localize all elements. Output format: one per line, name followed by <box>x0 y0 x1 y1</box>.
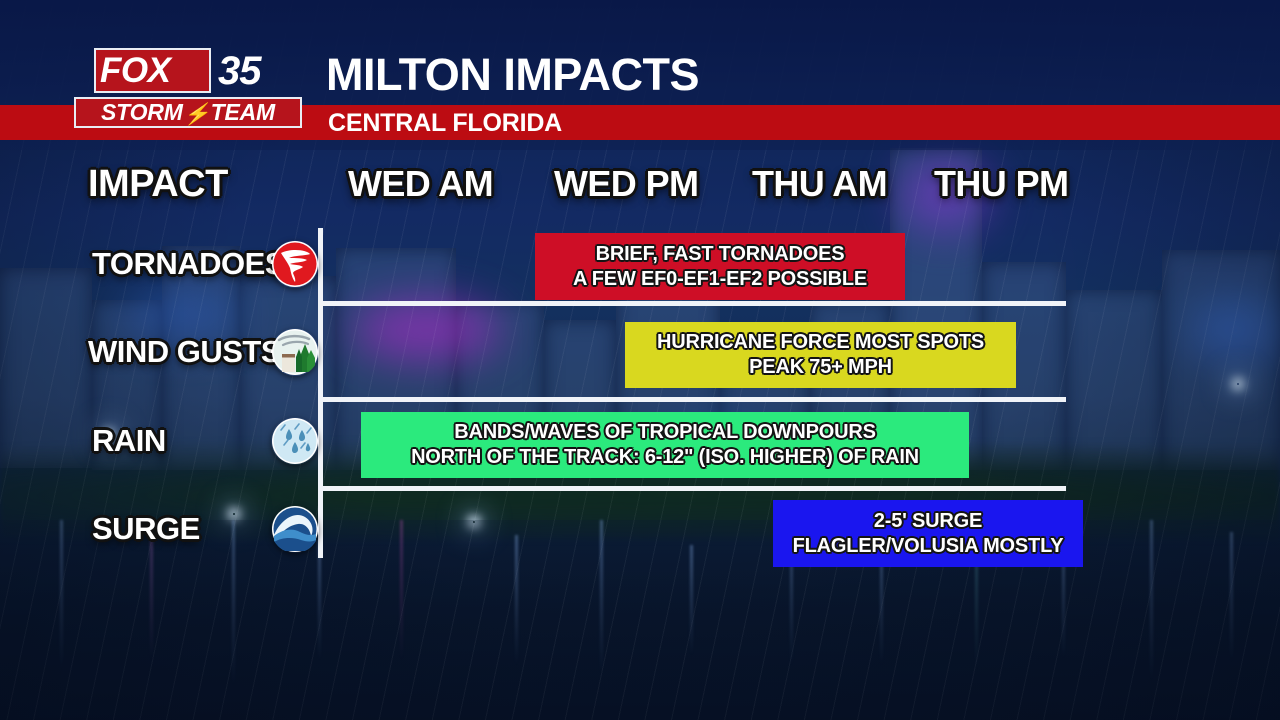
wind-gust-trees-icon <box>271 328 319 376</box>
column-header-thu-pm: THU PM <box>934 163 1068 205</box>
column-header-impact: IMPACT <box>88 163 228 206</box>
storm-word: STORM <box>101 99 183 125</box>
impact-bar-rain: BANDS/WAVES OF TROPICAL DOWNPOURS NORTH … <box>361 412 969 478</box>
storm-surge-wave-icon <box>271 505 319 553</box>
row-separator-1 <box>322 301 1066 306</box>
page-title: MILTON IMPACTS <box>326 50 699 100</box>
team-word: TEAM <box>211 99 275 125</box>
weather-graphic-screen: FOX 35 STORM⚡TEAM MILTON IMPACTS CENTRAL… <box>0 0 1280 720</box>
impact-bar-wind-gusts: HURRICANE FORCE MOST SPOTS PEAK 75+ MPH <box>625 322 1016 388</box>
column-header-wed-am: WED AM <box>348 163 493 205</box>
row-separator-3 <box>322 486 1066 491</box>
row-label-tornadoes: TORNADOES <box>92 246 285 282</box>
fox-wordmark: FOX <box>100 52 170 90</box>
tornado-icon <box>271 240 319 288</box>
fox35-storm-team-logo: FOX 35 STORM⚡TEAM <box>74 48 306 130</box>
impact-bar-surge: 2-5' SURGE FLAGLER/VOLUSIA MOSTLY <box>773 500 1083 567</box>
bar-line-2: PEAK 75+ MPH <box>749 355 892 380</box>
timeline-vertical-axis <box>318 228 323 558</box>
rain-drops-icon <box>271 417 319 465</box>
lightning-bolt-icon: ⚡ <box>184 103 210 127</box>
impact-bar-tornadoes: BRIEF, FAST TORNADOES A FEW EF0-EF1-EF2 … <box>535 233 905 300</box>
bar-line-1: BANDS/WAVES OF TROPICAL DOWNPOURS <box>454 420 876 445</box>
column-header-thu-am: THU AM <box>752 163 887 205</box>
bar-line-1: BRIEF, FAST TORNADOES <box>596 242 845 267</box>
bar-line-2: FLAGLER/VOLUSIA MOSTLY <box>793 534 1064 559</box>
storm-team-box: STORM⚡TEAM <box>74 97 302 128</box>
bar-line-1: HURRICANE FORCE MOST SPOTS <box>657 330 984 355</box>
page-subtitle: CENTRAL FLORIDA <box>328 109 562 137</box>
channel-number: 35 <box>218 49 261 93</box>
row-label-wind-gusts: WIND GUSTS <box>88 334 281 370</box>
row-label-surge: SURGE <box>92 511 200 547</box>
bar-line-1: 2-5' SURGE <box>874 509 982 534</box>
row-separator-2 <box>322 397 1066 402</box>
bar-line-2: NORTH OF THE TRACK: 6-12" (ISO. HIGHER) … <box>411 445 919 470</box>
bar-line-2: A FEW EF0-EF1-EF2 POSSIBLE <box>573 267 867 292</box>
lake-water <box>0 520 1280 720</box>
row-label-rain: RAIN <box>92 423 166 459</box>
column-header-wed-pm: WED PM <box>554 163 698 205</box>
storm-team-wordmark: STORM⚡TEAM <box>101 99 275 126</box>
